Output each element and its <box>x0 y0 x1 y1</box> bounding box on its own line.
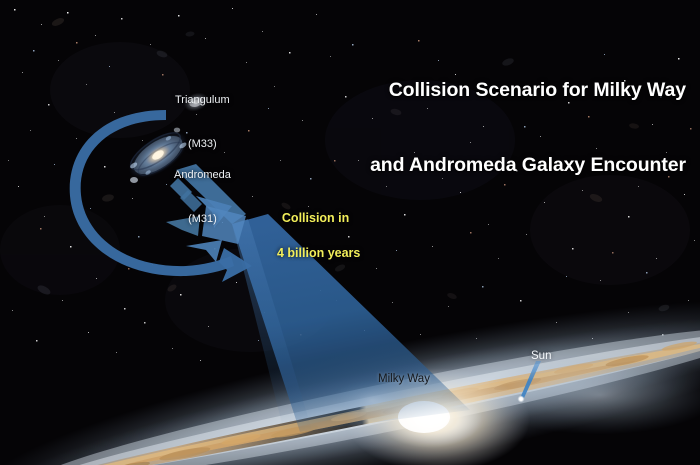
galaxy-objects-layer <box>0 0 700 465</box>
illustration-canvas: Collision Scenario for Milky Way and And… <box>0 0 700 465</box>
m31-companion-a <box>130 177 138 183</box>
triangulum-galaxy <box>181 89 212 115</box>
m31-companion-b <box>174 128 180 133</box>
